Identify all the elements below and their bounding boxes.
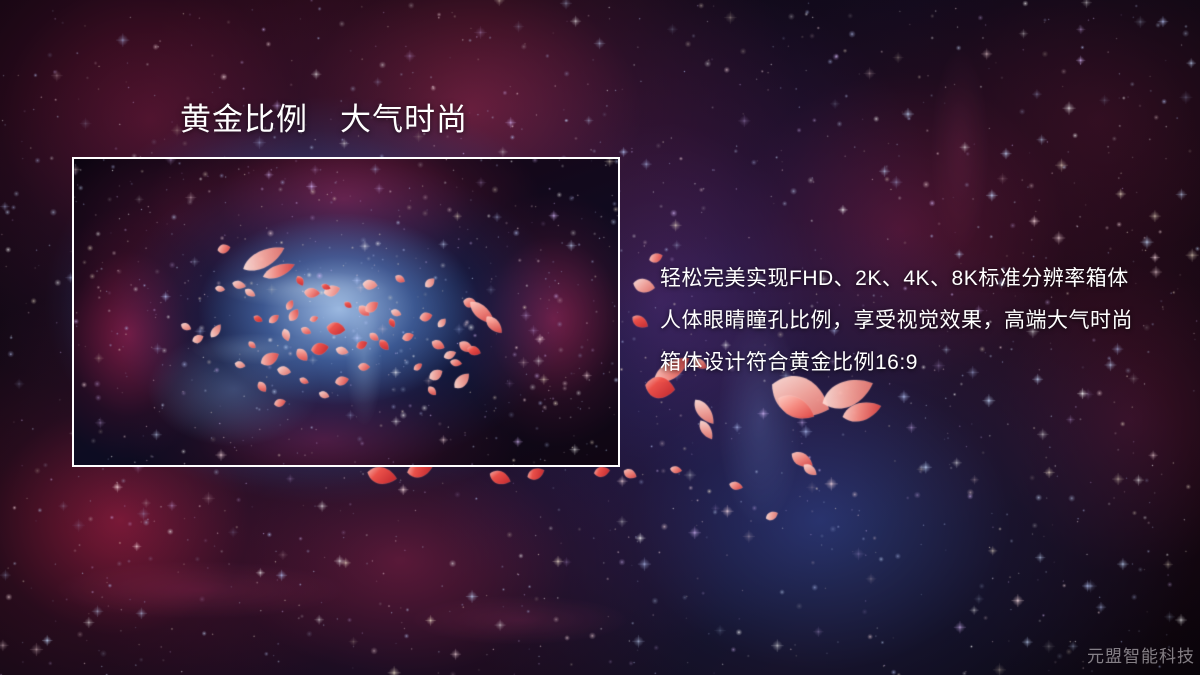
framed-image-stars-and-petals	[74, 159, 618, 465]
slide-title: 黄金比例 大气时尚	[180, 101, 468, 138]
body-line-1: 轻松完美实现FHD、2K、4K、8K标准分辨率箱体	[660, 258, 1180, 300]
body-line-2: 人体眼睛瞳孔比例，享受视觉效果，高端大气时尚	[660, 300, 1180, 342]
watermark: 元盟智能科技	[1087, 642, 1195, 667]
presentation-slide: 黄金比例 大气时尚 轻松完美实现FHD、2K、4K、8K标准分辨率箱体 人体眼睛…	[0, 0, 1200, 675]
body-line-3: 箱体设计符合黄金比例16:9	[660, 342, 1180, 384]
body-text-block: 轻松完美实现FHD、2K、4K、8K标准分辨率箱体 人体眼睛瞳孔比例，享受视觉效…	[660, 258, 1180, 384]
framed-image	[72, 157, 620, 467]
